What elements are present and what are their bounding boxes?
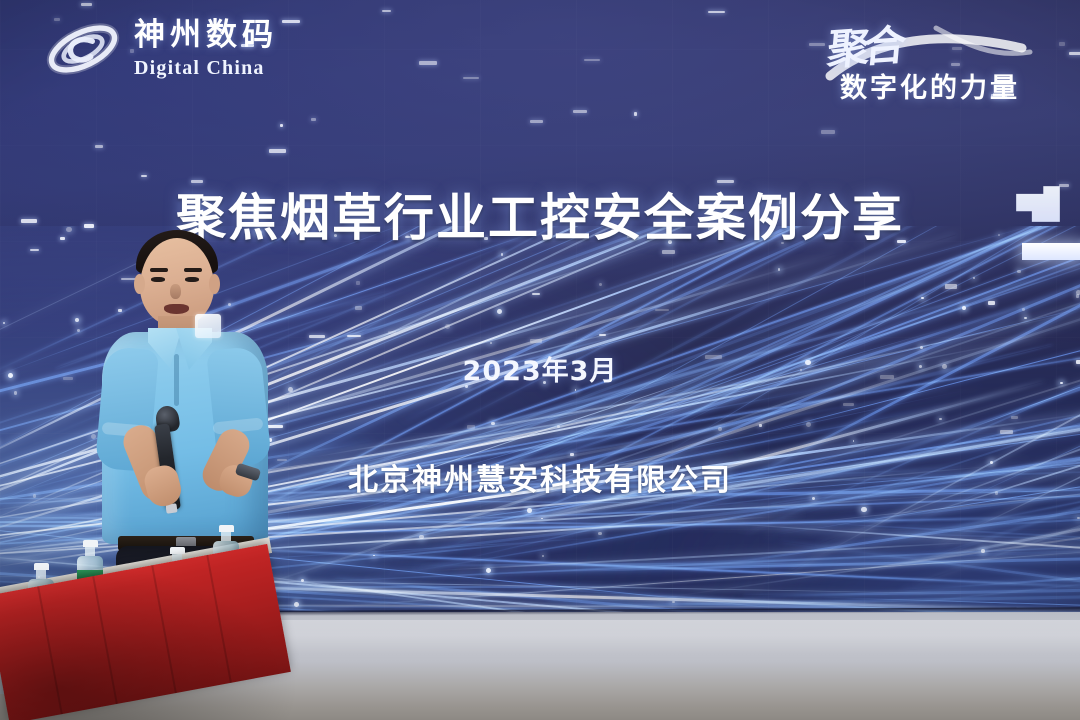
speaker-brow-left xyxy=(150,268,168,272)
brand-name-en: Digital China xyxy=(134,58,278,78)
bottle-neck xyxy=(36,570,46,579)
brand-name-cn: 神州数码 xyxy=(134,20,278,51)
led-screen-background: 聚焦烟草行业工控安全案例分享 2023年3月 北京神州慧安科技有限公司 神州数码… xyxy=(0,0,1080,626)
photo-stage: 聚焦烟草行业工控安全案例分享 2023年3月 北京神州慧安科技有限公司 神州数码… xyxy=(0,0,1080,720)
galaxy-swirl-icon xyxy=(44,18,122,80)
speaker-shirt-placket xyxy=(174,354,179,406)
bottle-cap xyxy=(34,563,49,570)
event-logo: 聚合 数字化的力量 xyxy=(810,14,1060,110)
bottle-cap xyxy=(83,540,98,547)
digital-china-logo: 神州数码 Digital China xyxy=(44,18,278,80)
speaker-mouth xyxy=(164,304,189,314)
speaker-eye-right xyxy=(185,277,199,282)
speaker-eye-left xyxy=(151,277,165,282)
speaker-chest-logo-patch xyxy=(195,314,221,338)
bottle-neck xyxy=(85,547,95,556)
event-tagline: 数字化的力量 xyxy=(840,66,1020,105)
speaker-ear-left xyxy=(134,274,145,294)
speaker-nose xyxy=(170,284,181,299)
bottle-neck xyxy=(221,532,231,541)
speaker-brow-right xyxy=(184,268,202,272)
bottle-cap xyxy=(219,525,234,532)
bottle-cap xyxy=(170,547,185,554)
speaker-ear-right xyxy=(209,274,220,294)
